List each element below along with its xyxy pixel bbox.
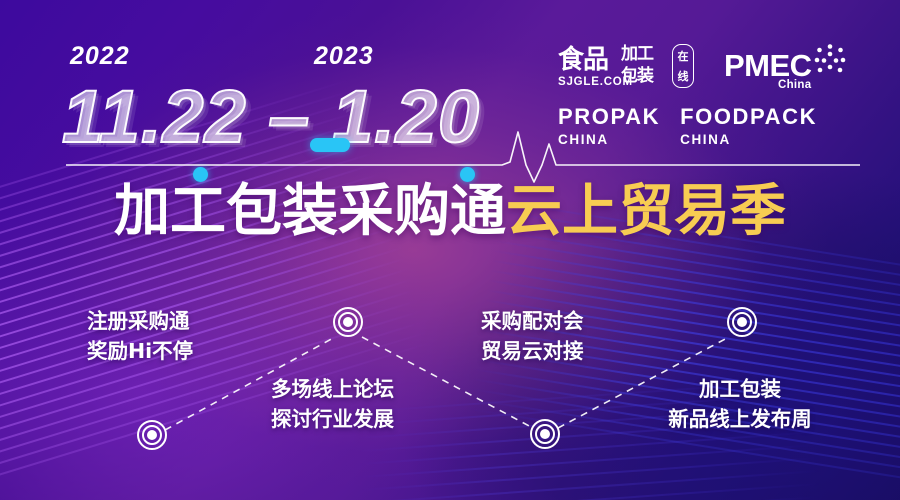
node-core-icon — [343, 317, 353, 327]
timeline-label-1-line2: 奖励Hi不停 — [87, 336, 193, 366]
sjgle-badge-text-1: 在 — [678, 50, 689, 63]
sjgle-online-badge: 在 线 — [672, 44, 694, 88]
headline-accent-text: 云上贸易季 — [506, 179, 786, 244]
sjgle-chinese-main: 食品 — [558, 45, 608, 75]
timeline-label-3-line2: 贸易云对接 — [481, 336, 584, 366]
propak-name: PROPAK — [558, 104, 660, 130]
pmec-burst-icon — [810, 42, 850, 82]
timeline-label-4-line1: 加工包装 — [655, 374, 825, 404]
timeline-node-2[interactable] — [333, 307, 363, 337]
timeline-label-4-line2: 新品线上发布周 — [655, 404, 825, 434]
pmec-region-label: China — [778, 79, 811, 91]
timeline-label-1[interactable]: 注册采购通 奖励Hi不停 — [87, 306, 193, 366]
sjgle-badge-text-2: 线 — [678, 70, 689, 83]
timeline-label-4[interactable]: 加工包装 新品线上发布周 — [655, 374, 825, 434]
timeline-label-2[interactable]: 多场线上论坛 探讨行业发展 — [271, 374, 394, 434]
sjgle-logo: 食品 加工 包装 在 线 SJGLE.COM — [558, 46, 708, 96]
event-timeline: 注册采购通 奖励Hi不停 多场线上论坛 探讨行业发展 采购配对会 贸易云对接 加… — [0, 280, 900, 500]
exhibition-logo-group: 食品 加工 包装 在 线 SJGLE.COM PMEC China — [558, 46, 858, 156]
timeline-node-4[interactable] — [727, 307, 757, 337]
node-core-icon — [147, 430, 157, 440]
logo-row-primary: 食品 加工 包装 在 线 SJGLE.COM PMEC China — [558, 46, 858, 96]
banner-headline: 加工包装采购通云上贸易季 — [0, 178, 900, 246]
foodpack-name: FOODPACK — [680, 104, 817, 130]
timeline-label-2-line1: 多场线上论坛 — [271, 374, 394, 404]
sjgle-url-label: SJGLE.COM — [558, 76, 633, 88]
foodpack-logo: FOODPACK CHINA — [680, 104, 817, 156]
headline-main-text: 加工包装采购通 — [114, 179, 506, 244]
foodpack-region: CHINA — [680, 132, 817, 147]
timeline-label-3-line1: 采购配对会 — [481, 306, 584, 336]
promo-banner: 2022 2023 11.22 – 1.20 食品 加工 包装 在 线 — [0, 0, 900, 500]
node-core-icon — [540, 429, 550, 439]
timeline-label-3[interactable]: 采购配对会 贸易云对接 — [481, 306, 584, 366]
propak-logo: PROPAK CHINA — [558, 104, 660, 156]
pmec-logo: PMEC China — [724, 46, 854, 96]
sjgle-stack-top: 加工 — [621, 43, 669, 65]
logo-row-secondary: PROPAK CHINA FOODPACK CHINA — [558, 104, 858, 156]
timeline-label-2-line2: 探讨行业发展 — [271, 404, 394, 434]
timeline-node-1[interactable] — [137, 420, 167, 450]
timeline-node-3[interactable] — [530, 419, 560, 449]
node-core-icon — [737, 317, 747, 327]
propak-region: CHINA — [558, 132, 660, 147]
timeline-label-1-line1: 注册采购通 — [87, 306, 193, 336]
